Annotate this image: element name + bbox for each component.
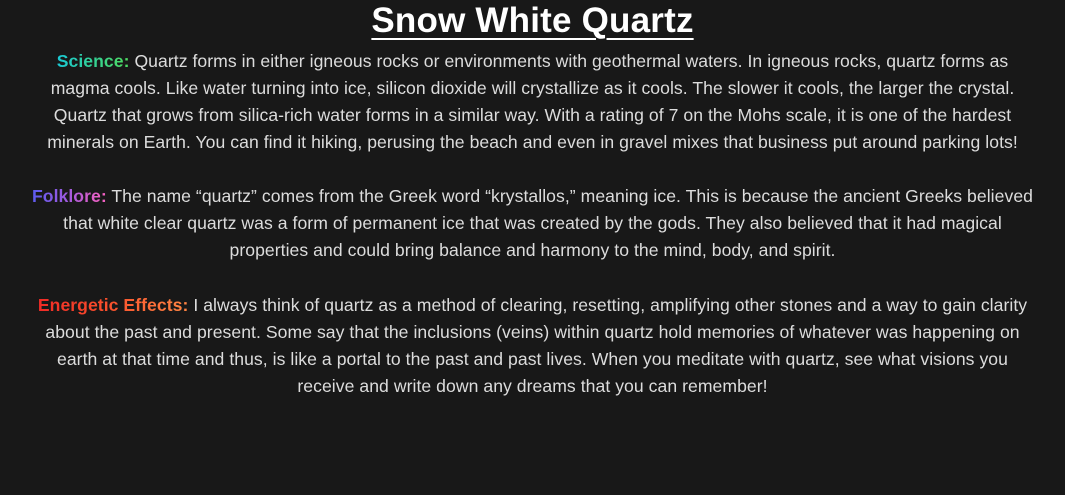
section-folklore-paragraph: Folklore: The name “quartz” comes from t… — [28, 183, 1037, 264]
section-energetic-effects-label: Energetic Effects — [38, 295, 183, 315]
section-science-label: Science — [57, 51, 124, 71]
section-energetic-effects-paragraph: Energetic Effects: I always think of qua… — [28, 292, 1037, 400]
section-energetic-effects-body: I always think of quartz as a method of … — [45, 295, 1027, 396]
section-folklore-body: The name “quartz” comes from the Greek w… — [63, 186, 1033, 260]
crystal-info-page: Snow White Quartz Science: Quartz forms … — [0, 0, 1065, 495]
section-folklore: Folklore: The name “quartz” comes from t… — [28, 183, 1037, 264]
section-science: Science: Quartz forms in either igneous … — [28, 48, 1037, 156]
page-title: Snow White Quartz — [371, 0, 693, 41]
section-folklore-label: Folklore — [32, 186, 101, 206]
section-science-body: Quartz forms in either igneous rocks or … — [47, 51, 1018, 152]
section-energetic-effects: Energetic Effects: I always think of qua… — [28, 292, 1037, 400]
section-science-paragraph: Science: Quartz forms in either igneous … — [28, 48, 1037, 156]
